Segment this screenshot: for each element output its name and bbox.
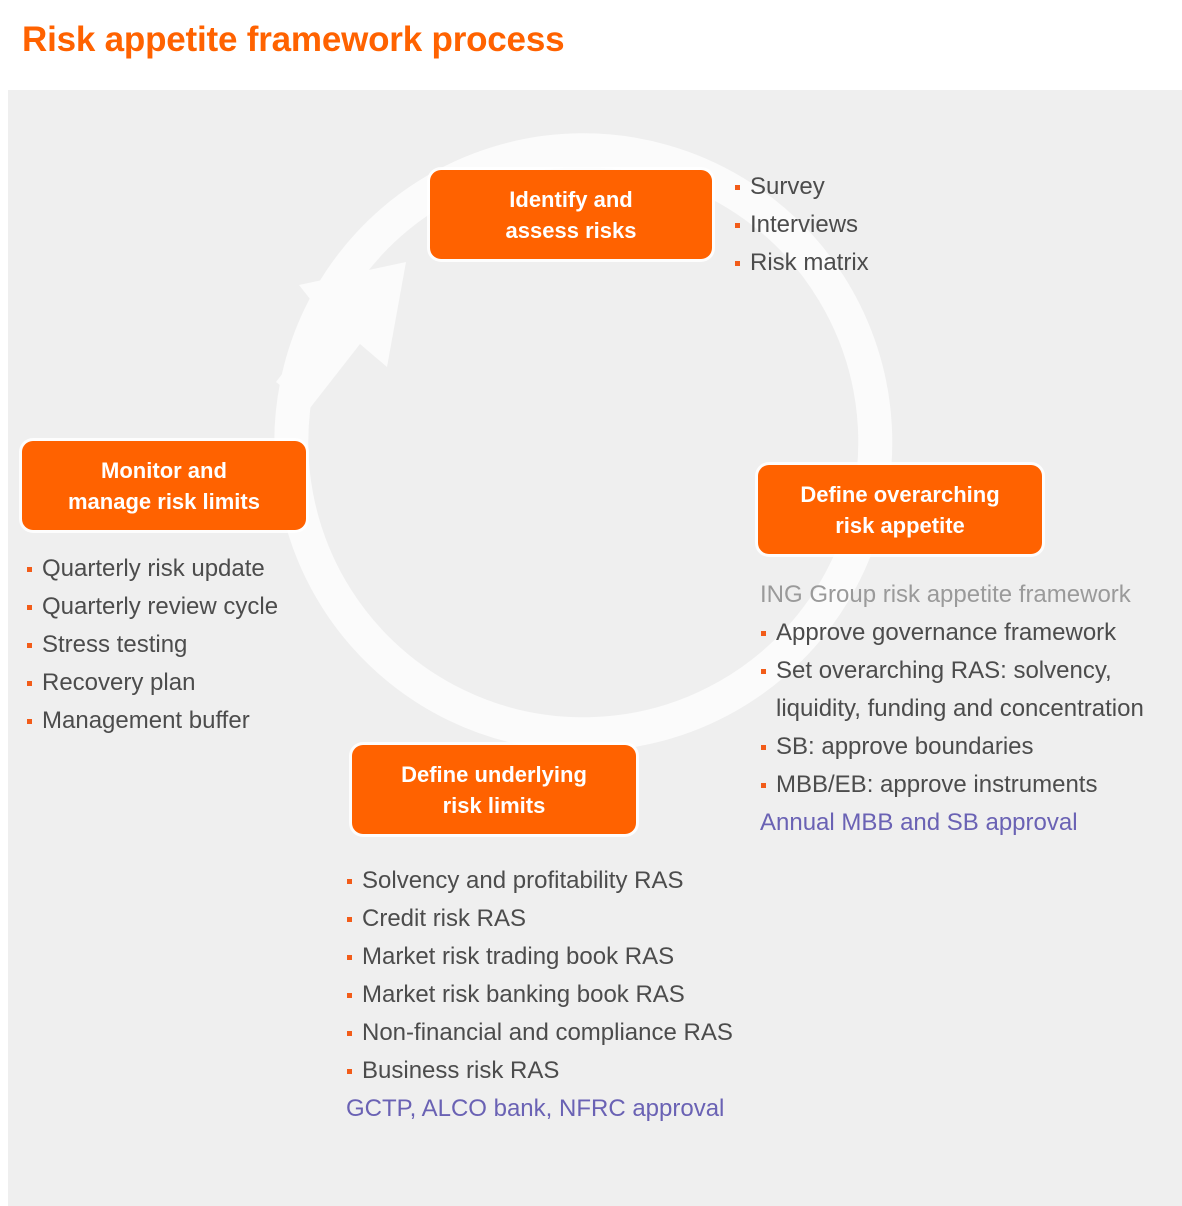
list-item: MBB/EB: approve instruments xyxy=(760,766,1182,804)
list-item: Quarterly review cycle xyxy=(26,588,356,626)
diagram-panel: Identify and assess risks Define overarc… xyxy=(8,90,1182,1206)
list-item: ING Group risk appetite framework xyxy=(760,576,1182,614)
detail-list-monitor: Quarterly risk updateQuarterly review cy… xyxy=(26,550,356,740)
node-label: Monitor and manage risk limits xyxy=(68,455,260,517)
list-item: Management buffer xyxy=(26,702,356,740)
list-item: Credit risk RAS xyxy=(346,900,816,938)
node-monitor-and-manage-risk-limits[interactable]: Monitor and manage risk limits xyxy=(22,441,306,530)
detail-list-identify: SurveyInterviewsRisk matrix xyxy=(734,168,1064,282)
detail-list-underlying: Solvency and profitability RASCredit ris… xyxy=(346,862,816,1128)
page-title: Risk appetite framework process xyxy=(22,20,564,60)
node-define-underlying-risk-limits[interactable]: Define underlying risk limits xyxy=(352,745,636,834)
node-label: Define overarching risk appetite xyxy=(800,479,999,541)
list-item: Market risk trading book RAS xyxy=(346,938,816,976)
list-item: Solvency and profitability RAS xyxy=(346,862,816,900)
node-define-overarching-risk-appetite[interactable]: Define overarching risk appetite xyxy=(758,465,1042,554)
list-item: Recovery plan xyxy=(26,664,356,702)
list-item: SB: approve boundaries xyxy=(760,728,1182,766)
list-item: GCTP, ALCO bank, NFRC approval xyxy=(346,1090,816,1128)
node-label: Define underlying risk limits xyxy=(401,759,587,821)
list-item: Annual MBB and SB approval xyxy=(760,804,1182,842)
list-item: Survey xyxy=(734,168,1064,206)
list-item: Approve governance framework xyxy=(760,614,1182,652)
list-item: Risk matrix xyxy=(734,244,1064,282)
list-item: Quarterly risk update xyxy=(26,550,356,588)
list-item: Business risk RAS xyxy=(346,1052,816,1090)
list-item: Stress testing xyxy=(26,626,356,664)
list-item: Interviews xyxy=(734,206,1064,244)
node-label: Identify and assess risks xyxy=(506,184,637,246)
list-item: Market risk banking book RAS xyxy=(346,976,816,1014)
detail-list-overarching: ING Group risk appetite frameworkApprove… xyxy=(760,576,1182,842)
list-item: Set overarching RAS: solvency, liquidity… xyxy=(760,652,1182,728)
node-identify-and-assess-risks[interactable]: Identify and assess risks xyxy=(430,170,712,259)
list-item: Non-financial and compliance RAS xyxy=(346,1014,816,1052)
